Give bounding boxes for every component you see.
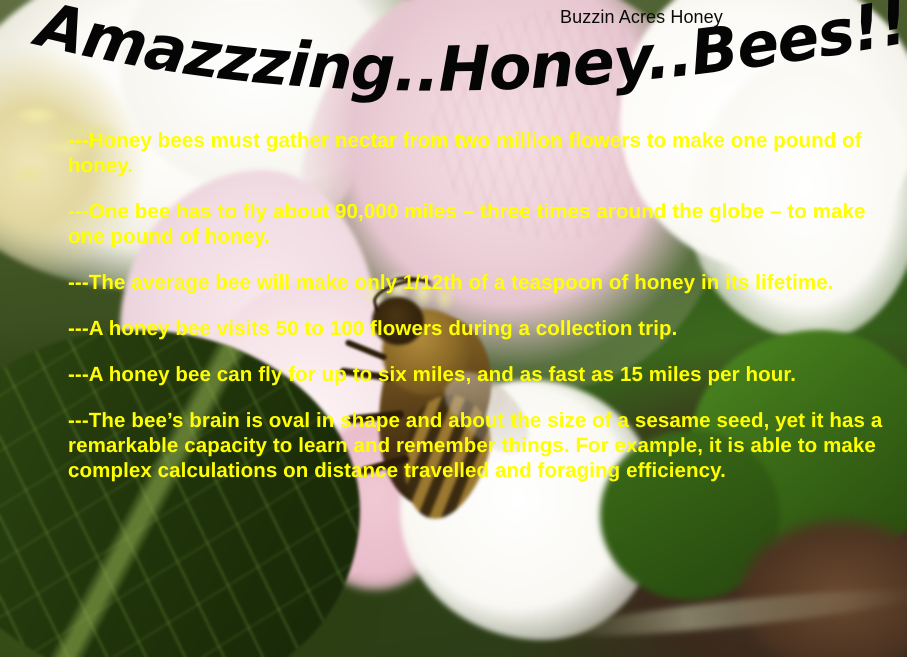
fact-item: ---A honey bee can fly for up to six mil… bbox=[68, 362, 892, 387]
fact-list: ---Honey bees must gather nectar from tw… bbox=[68, 128, 892, 483]
fact-item: ---A honey bee visits 50 to 100 flowers … bbox=[68, 316, 892, 341]
fact-item: ---Honey bees must gather nectar from tw… bbox=[68, 128, 892, 178]
fact-item: ---The average bee will make only 1/12th… bbox=[68, 270, 892, 295]
fact-item: ---The bee’s brain is oval in shape and … bbox=[68, 408, 892, 483]
brand-label: Buzzin Acres Honey bbox=[560, 7, 723, 28]
slide-canvas: Buzzin Acres Honey Amazzzing..Honey..Bee… bbox=[0, 0, 907, 657]
fact-item: ---One bee has to fly about 90,000 miles… bbox=[68, 199, 892, 249]
